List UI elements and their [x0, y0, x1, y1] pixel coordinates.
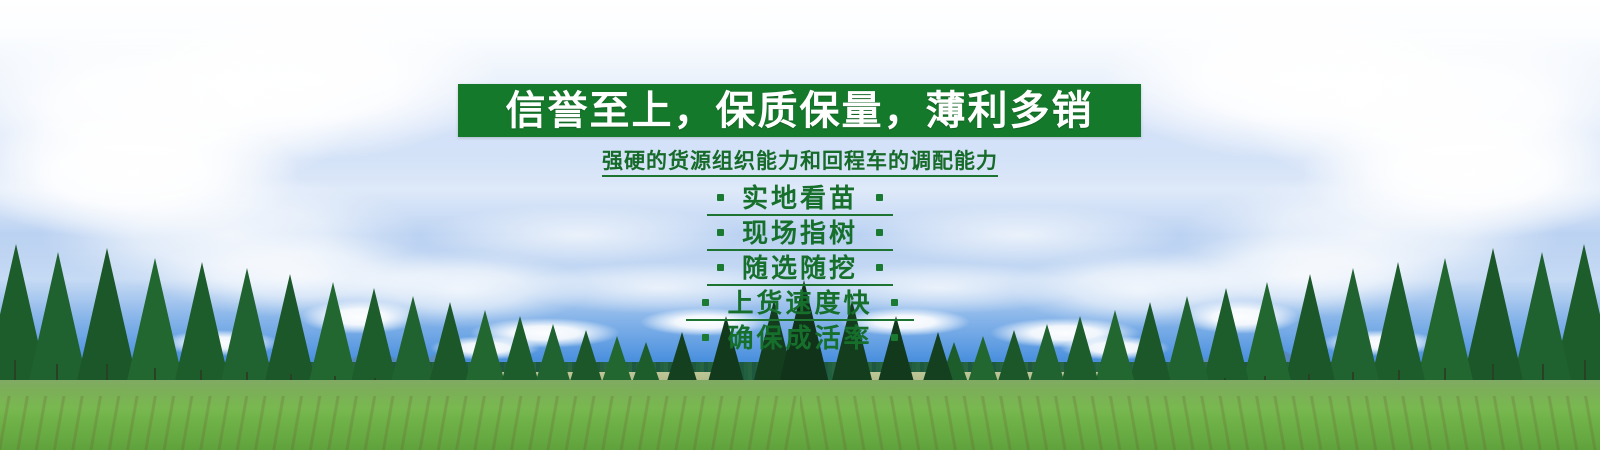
subtitle-text: 强硬的货源组织能力和回程车的调配能力 — [602, 150, 998, 177]
subtitle: 强硬的货源组织能力和回程车的调配能力 — [0, 145, 1600, 175]
promo-banner: 信誉至上，保质保量，薄利多销 强硬的货源组织能力和回程车的调配能力 实地看苗 现… — [0, 0, 1600, 450]
bullet-dot-icon — [717, 194, 724, 201]
feature-label: 上货速度快 — [727, 290, 872, 316]
bullet-dot-icon — [891, 299, 898, 306]
bullet-dot-icon — [876, 229, 883, 236]
feature-item: 确保成活率 — [0, 320, 1600, 355]
feature-list: 实地看苗 现场指树 随选随挖 上货速度快 — [0, 180, 1600, 355]
bullet-dot-icon — [717, 229, 724, 236]
feature-item: 现场指树 — [0, 215, 1600, 250]
bullet-dot-icon — [876, 194, 883, 201]
headline-text: 信誉至上，保质保量，薄利多销 — [506, 91, 1094, 131]
bullet-dot-icon — [891, 334, 898, 341]
banner-content: 信誉至上，保质保量，薄利多销 强硬的货源组织能力和回程车的调配能力 实地看苗 现… — [0, 0, 1600, 450]
feature-label: 现场指树 — [742, 220, 858, 246]
bullet-dot-icon — [702, 334, 709, 341]
feature-label: 随选随挖 — [742, 255, 858, 281]
feature-label: 确保成活率 — [727, 325, 872, 351]
headline-band: 信誉至上，保质保量，薄利多销 — [458, 84, 1141, 137]
bullet-dot-icon — [717, 264, 724, 271]
bullet-dot-icon — [702, 299, 709, 306]
feature-item: 实地看苗 — [0, 180, 1600, 215]
feature-label: 实地看苗 — [742, 185, 858, 211]
bullet-dot-icon — [876, 264, 883, 271]
feature-item: 上货速度快 — [0, 285, 1600, 320]
feature-item: 随选随挖 — [0, 250, 1600, 285]
